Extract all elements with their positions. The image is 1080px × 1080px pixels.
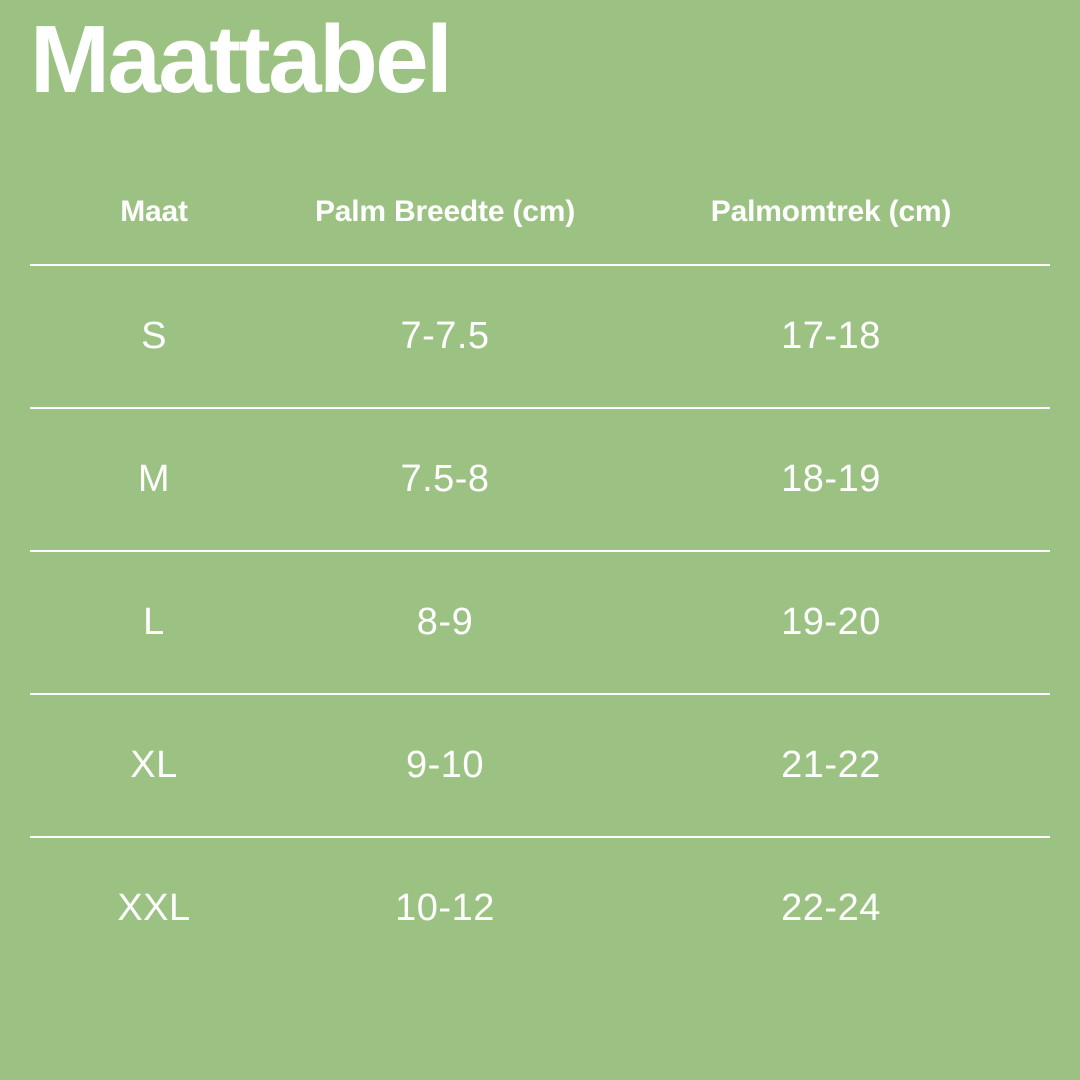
cell-size: S (30, 265, 278, 408)
table-row: L 8-9 19-20 (30, 551, 1050, 694)
cell-width: 7-7.5 (278, 265, 612, 408)
cell-size: L (30, 551, 278, 694)
page-title: Maattabel (30, 8, 1030, 112)
column-header-size: Maat (30, 160, 278, 265)
size-table: Maat Palm Breedte (cm) Palmomtrek (cm) S… (30, 160, 1050, 979)
cell-size: XXL (30, 837, 278, 979)
cell-width: 7.5-8 (278, 408, 612, 551)
size-chart-canvas: Maattabel Maat Palm Breedte (cm) Palmomt… (0, 0, 1080, 1080)
table-header: Maat Palm Breedte (cm) Palmomtrek (cm) (30, 160, 1050, 265)
cell-size: M (30, 408, 278, 551)
cell-width: 9-10 (278, 694, 612, 837)
cell-girth: 17-18 (612, 265, 1050, 408)
cell-girth: 21-22 (612, 694, 1050, 837)
column-header-palm-circumference: Palmomtrek (cm) (612, 160, 1050, 265)
table-row: S 7-7.5 17-18 (30, 265, 1050, 408)
cell-width: 10-12 (278, 837, 612, 979)
column-header-palm-width: Palm Breedte (cm) (278, 160, 612, 265)
cell-girth: 19-20 (612, 551, 1050, 694)
cell-girth: 22-24 (612, 837, 1050, 979)
table-row: XXL 10-12 22-24 (30, 837, 1050, 979)
table-row: M 7.5-8 18-19 (30, 408, 1050, 551)
cell-width: 8-9 (278, 551, 612, 694)
table-row: XL 9-10 21-22 (30, 694, 1050, 837)
cell-girth: 18-19 (612, 408, 1050, 551)
table-header-row: Maat Palm Breedte (cm) Palmomtrek (cm) (30, 160, 1050, 265)
table-body: S 7-7.5 17-18 M 7.5-8 18-19 L 8-9 19-20 … (30, 265, 1050, 979)
cell-size: XL (30, 694, 278, 837)
